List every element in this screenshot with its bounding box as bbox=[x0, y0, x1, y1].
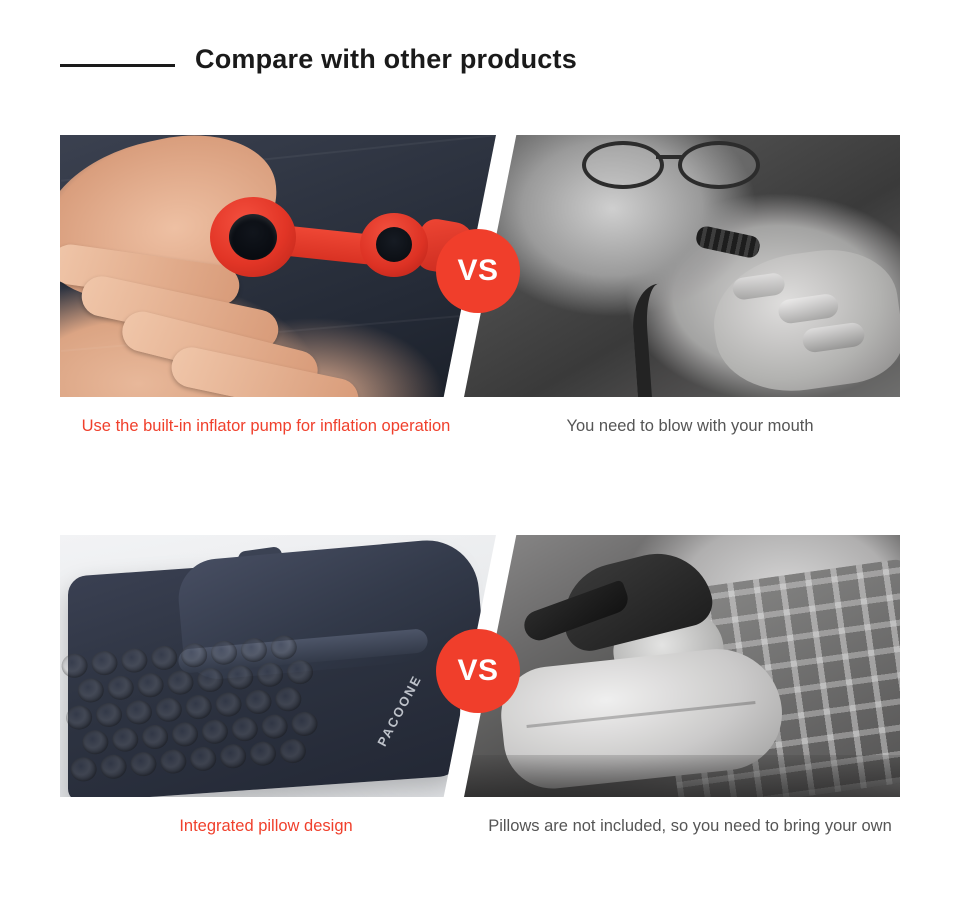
comparison-1-left-image bbox=[60, 135, 496, 397]
caption-left-2: Integrated pillow design bbox=[60, 815, 472, 839]
air-hose bbox=[630, 281, 710, 397]
page-header: Compare with other products bbox=[0, 0, 960, 108]
caption-left-1: Use the built-in inflator pump for infla… bbox=[60, 415, 472, 439]
hand-holding-pad bbox=[705, 241, 900, 397]
vs-label: VS bbox=[457, 254, 498, 288]
glasses-lens-left bbox=[582, 141, 664, 189]
comparison-block-1: VS Use the built-in inflator pump for in… bbox=[60, 135, 900, 475]
comparison-media-row-1: VS bbox=[60, 135, 900, 397]
scene-integrated-pillow-pad: PACOONE bbox=[60, 535, 496, 797]
comparison-captions-2: Integrated pillow design Pillows are not… bbox=[60, 815, 900, 875]
comparison-block-2: PACOONE VS Integrated pillow design Pill… bbox=[60, 535, 900, 875]
inflation-valve-large bbox=[210, 197, 296, 277]
comparison-captions-1: Use the built-in inflator pump for infla… bbox=[60, 415, 900, 475]
comparison-1-right-image bbox=[464, 135, 900, 397]
knuckle bbox=[731, 272, 786, 301]
caption-right-2: Pillows are not included, so you need to… bbox=[480, 815, 900, 839]
comparison-media-row-2: PACOONE VS bbox=[60, 535, 900, 797]
scene-separate-pillow bbox=[464, 535, 900, 797]
vs-badge-2: VS bbox=[436, 629, 520, 713]
knuckle bbox=[801, 321, 866, 353]
glasses-bridge bbox=[656, 155, 682, 159]
valve-mouthpiece bbox=[694, 225, 761, 260]
scene-mouth-blowing bbox=[464, 135, 900, 397]
inflation-valve-small bbox=[360, 213, 428, 277]
title-rule bbox=[60, 64, 175, 67]
caption-right-1: You need to blow with your mouth bbox=[480, 415, 900, 439]
vs-label: VS bbox=[457, 654, 498, 688]
glasses bbox=[582, 141, 758, 185]
comparison-2-right-image bbox=[464, 535, 900, 797]
page-title: Compare with other products bbox=[195, 44, 577, 75]
knuckle bbox=[777, 293, 840, 325]
scene-builtin-pump bbox=[60, 135, 496, 397]
pad-air-cells bbox=[61, 632, 340, 791]
vs-badge-1: VS bbox=[436, 229, 520, 313]
ground-shadow bbox=[464, 755, 900, 797]
comparison-2-left-image: PACOONE bbox=[60, 535, 496, 797]
glasses-lens-right bbox=[678, 141, 760, 189]
